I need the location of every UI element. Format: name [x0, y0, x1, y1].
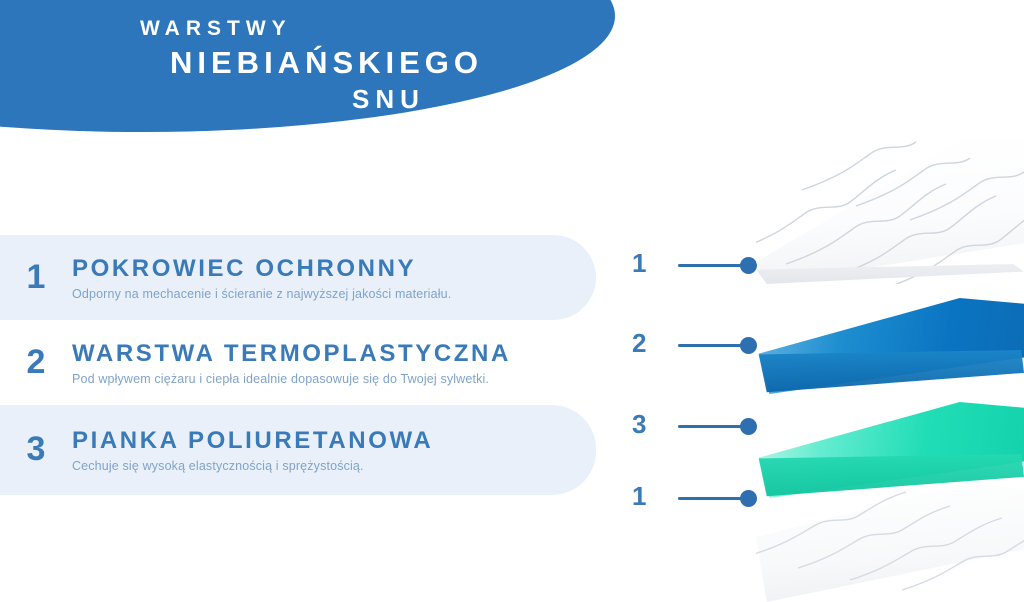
layer-text-block: PIANKA POLIURETANOWA Cechuje się wysoką …: [72, 427, 433, 473]
callout-marker: 3: [628, 401, 768, 473]
layer-text-block: POKROWIEC OCHRONNY Odporny na mechacenie…: [72, 255, 451, 301]
header-title-group: WARSTWY NIEBIAŃSKIEGO SNU: [0, 0, 1024, 132]
callout-marker: 1: [628, 473, 768, 552]
layer-row: 2 WARSTWA TERMOPLASTYCZNA Pod wpływem ci…: [0, 320, 596, 405]
callout-leader-line: [678, 344, 744, 347]
slab-thermoplastic-layer: [756, 298, 1024, 394]
quilt-stitch-pattern: [756, 482, 1024, 602]
layer-row: 1 POKROWIEC OCHRONNY Odporny na mechacen…: [0, 235, 596, 320]
layer-row: 3 PIANKA POLIURETANOWA Cechuje się wysok…: [0, 405, 596, 495]
callout-dot-icon: [740, 418, 757, 435]
layer-description: Odporny na mechacenie i ścieranie z najw…: [72, 287, 451, 301]
mattress-layers-illustration: [756, 130, 1024, 530]
callout-leader-line: [678, 497, 744, 500]
callout-leader-line: [678, 425, 744, 428]
layer-title: PIANKA POLIURETANOWA: [72, 427, 433, 455]
layer-title: WARSTWA TERMOPLASTYCZNA: [72, 340, 511, 368]
layer-description: Cechuje się wysoką elastycznością i sprę…: [72, 459, 433, 473]
callout-marker: 2: [628, 320, 768, 401]
header-line-1: WARSTWY: [140, 17, 292, 41]
layer-description: Pod wpływem ciężaru i ciepła idealnie do…: [72, 372, 511, 386]
layer-number: 1: [0, 260, 72, 296]
quilt-stitch-pattern: [756, 138, 1024, 284]
callout-dot-icon: [740, 257, 757, 274]
callout-dot-icon: [740, 337, 757, 354]
layer-number: 3: [0, 432, 72, 468]
slab-side: [756, 350, 1024, 394]
callout-number: 1: [632, 483, 646, 509]
slab-protective-cover-top: [756, 138, 1024, 284]
layer-title: POKROWIEC OCHRONNY: [72, 255, 451, 283]
callout-group: 1 2 3 1: [628, 240, 768, 552]
layer-number: 2: [0, 345, 72, 381]
callout-number: 2: [632, 330, 646, 356]
header-line-3: SNU: [352, 84, 425, 115]
callout-number: 3: [632, 411, 646, 437]
callout-number: 1: [632, 250, 646, 276]
callout-leader-line: [678, 264, 744, 267]
layer-list: 1 POKROWIEC OCHRONNY Odporny na mechacen…: [0, 235, 596, 495]
layer-text-block: WARSTWA TERMOPLASTYCZNA Pod wpływem cięż…: [72, 340, 511, 386]
callout-dot-icon: [740, 490, 757, 507]
callout-marker: 1: [628, 240, 768, 320]
header-line-2: NIEBIAŃSKIEGO: [170, 45, 483, 81]
slab-protective-cover-bottom: [756, 482, 1024, 602]
